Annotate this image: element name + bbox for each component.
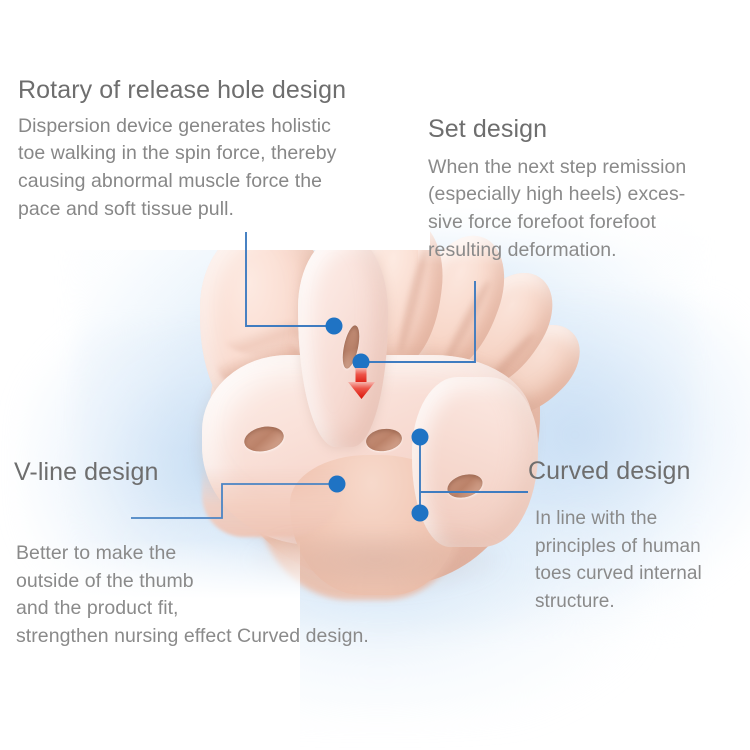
callout-body-rotary: Dispersion device generates holistic toe… xyxy=(18,113,346,224)
callout-text-rotary: Rotary of release hole design Dispersion… xyxy=(18,76,346,224)
callout-body-curved: In line with the principles of human toe… xyxy=(535,505,702,615)
callout-title-curved: Curved design xyxy=(528,457,691,486)
callout-body-vline: Better to make the outside of the thumb … xyxy=(16,540,369,651)
release-hole-marker xyxy=(326,318,343,335)
callout-text-set: Set design When the next step remission … xyxy=(428,115,686,265)
v-line-marker xyxy=(329,476,346,493)
infographic-canvas: Rotary of release hole design Dispersion… xyxy=(0,0,750,750)
callout-title-wrap-curved: Curved design xyxy=(528,457,691,486)
curved-edge-marker-top xyxy=(412,429,429,446)
callout-title-wrap-vline: V-line design xyxy=(14,458,158,487)
force-arrow-down xyxy=(348,368,375,399)
callout-title-set: Set design xyxy=(428,115,686,144)
callout-text-curved: In line with the principles of human toe… xyxy=(535,505,702,615)
callout-line-vline xyxy=(131,476,346,519)
callout-title-vline: V-line design xyxy=(14,458,158,487)
callout-title-rotary: Rotary of release hole design xyxy=(18,76,346,105)
curved-edge-marker-bottom xyxy=(412,505,429,522)
forefoot-pressure-marker xyxy=(353,354,370,371)
callout-body-set: When the next step remission (especially… xyxy=(428,154,686,265)
callout-line-set xyxy=(348,281,475,399)
callout-line-curved xyxy=(412,429,529,522)
callout-text-vline: Better to make the outside of the thumb … xyxy=(16,540,369,651)
callout-line-rotary xyxy=(246,232,343,335)
